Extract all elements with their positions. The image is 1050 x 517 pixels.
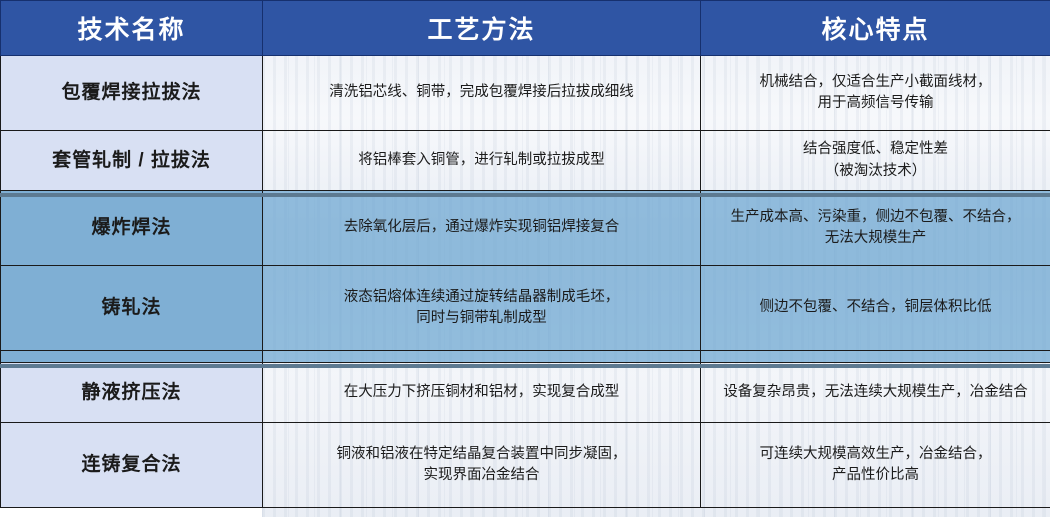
- cell-process-method: 去除氧化层后，通过爆炸实现铜铝焊接复合: [263, 191, 701, 266]
- cell-spacer: [701, 351, 1050, 363]
- column-header-name[interactable]: 技术名称: [1, 1, 263, 56]
- cell-technique-name: 套管轧制 / 拉拔法: [1, 131, 263, 191]
- cell-core-feature: 机械结合，仅适合生产小截面线材， 用于高频信号传输: [701, 56, 1050, 131]
- method-line: 将铝棒套入铜管，进行轧制或拉拔成型: [358, 152, 605, 168]
- cell-core-feature: 侧边不包覆、不结合，铜层体积比低: [701, 266, 1050, 351]
- feature-line: 生产成本高、污染重，侧边不包覆、不结合，: [731, 209, 1021, 225]
- cell-spacer: [1, 351, 263, 363]
- feature-line: 产品性价比高: [832, 467, 919, 483]
- cell-process-method: 将铝棒套入铜管，进行轧制或拉拔成型: [263, 131, 701, 191]
- table-row[interactable]: 包覆焊接拉拔法 清洗铝芯线、铜带，完成包覆焊接后拉拔成细线 机械结合，仅适合生产…: [1, 56, 1050, 131]
- column-header-method[interactable]: 工艺方法: [263, 1, 701, 56]
- feature-line: 侧边不包覆、不结合，铜层体积比低: [760, 299, 992, 315]
- cell-technique-name: 爆炸焊法: [1, 191, 263, 266]
- cell-process-method: 铜液和铝液在特定结晶复合装置中同步凝固， 实现界面冶金结合: [263, 423, 701, 508]
- feature-line: 设备复杂昂贵，无法连续大规模生产，冶金结合: [723, 384, 1028, 400]
- cell-spacer: [263, 351, 701, 363]
- method-line: 液态铝熔体连续通过旋转结晶器制成毛坯，: [344, 289, 620, 305]
- feature-line: 无法大规模生产: [825, 230, 927, 246]
- table-row[interactable]: 爆炸焊法 去除氧化层后，通过爆炸实现铜铝焊接复合 生产成本高、污染重，侧边不包覆…: [1, 191, 1050, 266]
- feature-line: 用于高频信号传输: [818, 95, 934, 111]
- cell-technique-name: 包覆焊接拉拔法: [1, 56, 263, 131]
- method-line: 清洗铝芯线、铜带，完成包覆焊接后拉拔成细线: [329, 84, 634, 100]
- cell-process-method: 清洗铝芯线、铜带，完成包覆焊接后拉拔成细线: [263, 56, 701, 131]
- column-header-feature[interactable]: 核心特点: [701, 1, 1050, 56]
- feature-line: 机械结合，仅适合生产小截面线材，: [760, 74, 992, 90]
- table-row[interactable]: 静液挤压法 在大压力下挤压铜材和铝材，实现复合成型 设备复杂昂贵，无法连续大规模…: [1, 363, 1050, 423]
- table-row[interactable]: 套管轧制 / 拉拔法 将铝棒套入铜管，进行轧制或拉拔成型 结合强度低、稳定性差 …: [1, 131, 1050, 191]
- tech-comparison-table-container: 技术名称 工艺方法 核心特点 包覆焊接拉拔法 清洗铝芯线、铜带，完成包覆焊接后拉…: [0, 0, 1050, 517]
- method-line: 去除氧化层后，通过爆炸实现铜铝焊接复合: [344, 219, 620, 235]
- table-body: 包覆焊接拉拔法 清洗铝芯线、铜带，完成包覆焊接后拉拔成细线 机械结合，仅适合生产…: [1, 56, 1050, 508]
- cell-core-feature: 可连续大规模高效生产，冶金结合， 产品性价比高: [701, 423, 1050, 508]
- table-header-row: 技术名称 工艺方法 核心特点: [1, 1, 1050, 56]
- table-row[interactable]: 铸轧法 液态铝熔体连续通过旋转结晶器制成毛坯， 同时与铜带轧制成型 侧边不包覆、…: [1, 266, 1050, 351]
- cell-technique-name: 铸轧法: [1, 266, 263, 351]
- table-spacer-row: [1, 351, 1050, 363]
- method-line: 实现界面冶金结合: [424, 467, 540, 483]
- cell-core-feature: 结合强度低、稳定性差 （被淘汰技术）: [701, 131, 1050, 191]
- feature-line: 结合强度低、稳定性差: [803, 141, 948, 157]
- cell-core-feature: 设备复杂昂贵，无法连续大规模生产，冶金结合: [701, 363, 1050, 423]
- feature-line: （被淘汰技术）: [825, 163, 927, 179]
- tech-comparison-table: 技术名称 工艺方法 核心特点 包覆焊接拉拔法 清洗铝芯线、铜带，完成包覆焊接后拉…: [0, 0, 1050, 508]
- table-row[interactable]: 连铸复合法 铜液和铝液在特定结晶复合装置中同步凝固， 实现界面冶金结合 可连续大…: [1, 423, 1050, 508]
- feature-line: 可连续大规模高效生产，冶金结合，: [760, 446, 992, 462]
- method-line: 铜液和铝液在特定结晶复合装置中同步凝固，: [337, 446, 627, 462]
- cell-process-method: 在大压力下挤压铜材和铝材，实现复合成型: [263, 363, 701, 423]
- cell-core-feature: 生产成本高、污染重，侧边不包覆、不结合， 无法大规模生产: [701, 191, 1050, 266]
- cell-technique-name: 静液挤压法: [1, 363, 263, 423]
- table-header: 技术名称 工艺方法 核心特点: [1, 1, 1050, 56]
- method-line: 在大压力下挤压铜材和铝材，实现复合成型: [344, 384, 620, 400]
- cell-technique-name: 连铸复合法: [1, 423, 263, 508]
- method-line: 同时与铜带轧制成型: [416, 310, 547, 326]
- cell-process-method: 液态铝熔体连续通过旋转结晶器制成毛坯， 同时与铜带轧制成型: [263, 266, 701, 351]
